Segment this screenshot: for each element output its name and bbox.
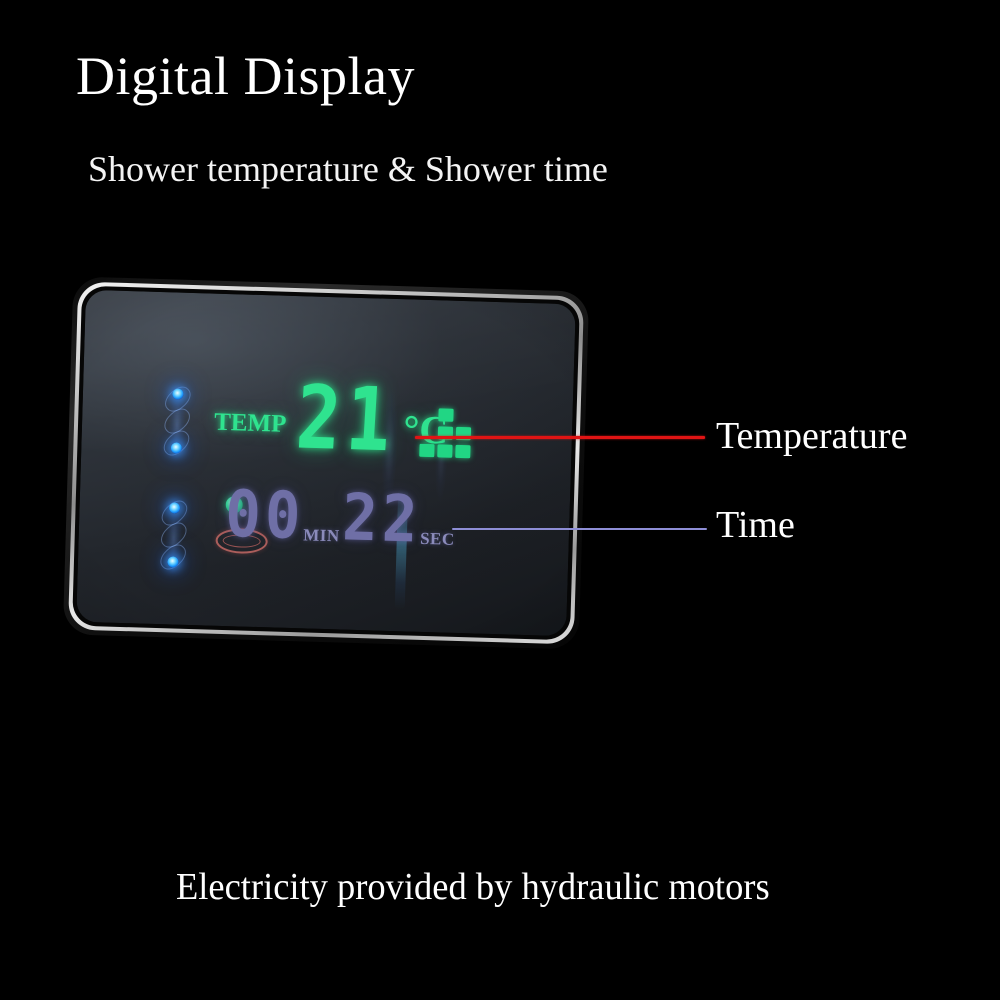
time-seconds-unit: SEC: [420, 529, 455, 550]
temperature-readout: TEMP 21 °C: [213, 388, 449, 463]
time-minutes-value: 00: [225, 484, 306, 547]
footer-note: Electricity provided by hydraulic motors: [176, 865, 770, 909]
lcd-screen: TEMP 21 °C 00 MIN 22 SEC: [76, 290, 576, 636]
page-title: Digital Display: [76, 48, 415, 105]
callout-line-temperature: [415, 436, 705, 439]
callout-label-time: Time: [716, 503, 795, 547]
time-minutes-unit: MIN: [303, 526, 340, 547]
callout-line-time: [452, 528, 707, 530]
callout-label-temperature: Temperature: [716, 414, 907, 458]
signal-block: [437, 444, 452, 457]
temperature-value: 21: [294, 378, 398, 461]
signal-bars-icon: [419, 408, 475, 462]
page-subtitle: Shower temperature & Shower time: [88, 150, 608, 190]
blue-led-cluster-upper: [159, 376, 196, 473]
time-readout: 00 MIN 22 SEC: [225, 492, 458, 552]
temp-label: TEMP: [214, 409, 287, 439]
time-seconds-value: 22: [341, 488, 422, 551]
blue-led-cluster-lower: [155, 490, 192, 587]
signal-block: [419, 444, 434, 457]
signal-block: [455, 445, 470, 458]
signal-block: [438, 408, 453, 421]
digital-display-panel: TEMP 21 °C 00 MIN 22 SEC: [63, 276, 589, 649]
